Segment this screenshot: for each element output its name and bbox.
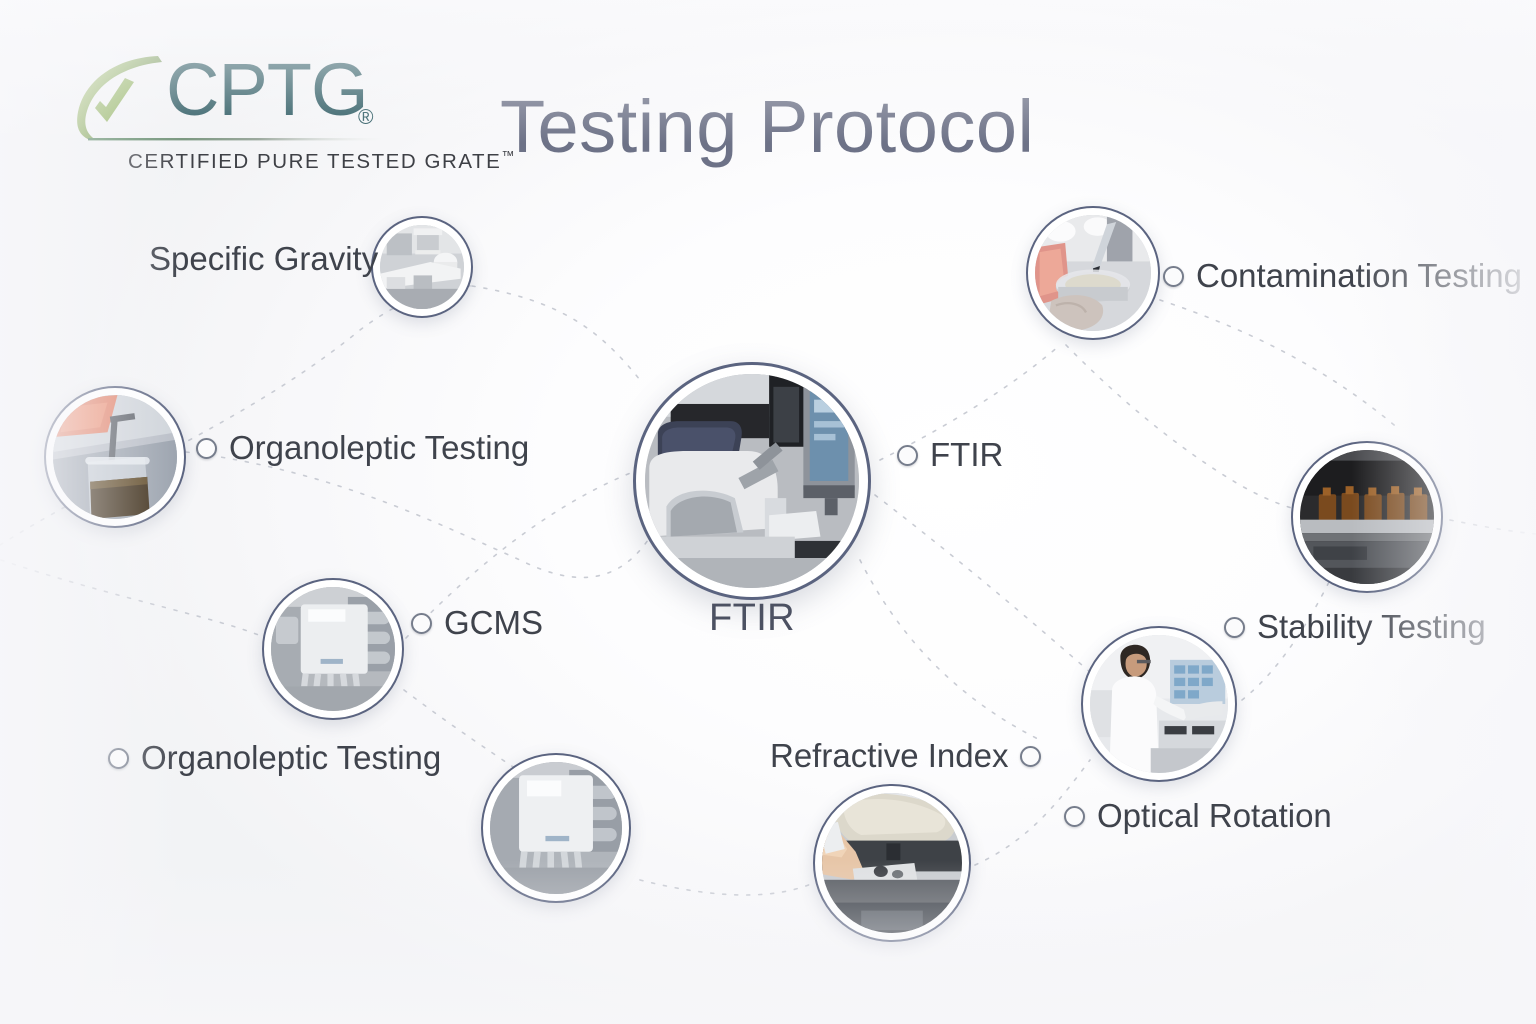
label-text: Organoleptic Testing [229,429,529,467]
label-text: Contamination Testing [1196,257,1522,295]
label-text: FTIR [930,436,1003,474]
label-text: Optical Rotation [1097,797,1332,835]
node-gcms-upper[interactable] [262,578,404,720]
label-ftir-center: FTIR [709,597,795,639]
label-text: Refractive Index [770,737,1008,775]
label-gcms-upper: GCMS [411,604,543,642]
cptg-logo: CPTG ® CERTIFIED PURE TESTED GRATE™ [62,44,412,174]
label-specific-gravity: Specific Gravity [149,240,378,278]
label-organoleptic-testing-lower: Organoleptic Testing [108,739,441,777]
amber-bottles-shelf-photo [1300,450,1434,584]
testing-protocol-infographic: CPTG ® CERTIFIED PURE TESTED GRATE™ Test… [0,0,1536,1024]
bullet-icon [897,445,918,466]
logo-wordmark: CPTG [166,53,368,127]
label-contamination-testing: Contamination Testing [1163,257,1522,295]
refractometer-hand-photo [822,793,962,933]
label-text: Stability Testing [1257,608,1486,646]
label-stability-testing: Stability Testing [1224,608,1486,646]
logo-tagline: CERTIFIED PURE TESTED GRATE™ [128,148,514,174]
node-contamination-testing[interactable] [1026,206,1160,340]
bullet-icon [1064,806,1085,827]
label-refractive-index: Refractive Index [770,737,1041,775]
bullet-icon [108,748,129,769]
organoleptic-beaker-photo [53,395,177,519]
petri-dish-pipette-photo [1035,215,1151,331]
node-refractive-index[interactable] [813,784,971,942]
node-organoleptic-testing-lower[interactable] [481,753,631,903]
bullet-icon [196,438,217,459]
bullet-icon [411,613,432,634]
registered-mark: ® [358,106,373,130]
node-ftir-center[interactable] [633,362,871,600]
node-organoleptic-testing-upper[interactable] [44,386,186,528]
bullet-icon [1224,617,1245,638]
node-specific-gravity[interactable] [371,216,473,318]
page-title: Testing Protocol [500,88,1035,166]
lab-technician-photo [1090,635,1228,773]
node-stability-testing[interactable] [1291,441,1443,593]
label-ftir-side: FTIR [897,436,1003,474]
node-optical-rotation[interactable] [1081,626,1237,782]
label-text: GCMS [444,604,543,642]
ftir-spectrometer-photo [645,374,859,588]
logo-tagline-text: CERTIFIED PURE TESTED GRATE [128,150,501,173]
label-optical-rotation: Optical Rotation [1064,797,1332,835]
bullet-icon [1020,746,1041,767]
bullet-icon [1163,266,1184,287]
label-text: Specific Gravity [149,240,378,278]
label-text: Organoleptic Testing [141,739,441,777]
specific-gravity-balance-photo [380,225,464,309]
gcms-instrument-photo-2 [490,762,622,894]
label-organoleptic-testing-upper: Organoleptic Testing [196,429,529,467]
gcms-instrument-photo [271,587,395,711]
